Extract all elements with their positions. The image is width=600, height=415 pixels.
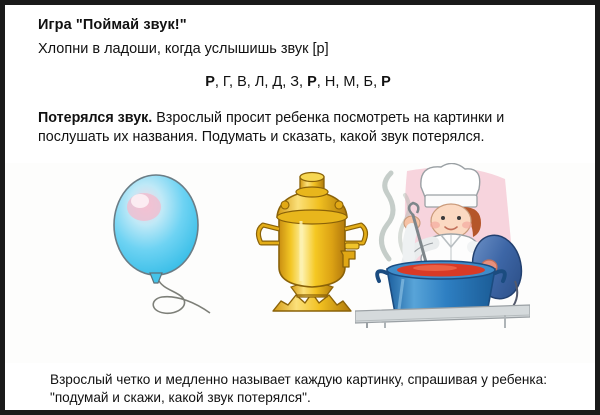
- letter-token: З: [290, 74, 299, 90]
- picture-cook: [355, 163, 530, 328]
- letters-sequence-text: Р, Г, В, Л, Д, З, Р, Н, М, Б, Р: [205, 74, 391, 90]
- letter-token: ,: [299, 74, 307, 90]
- letter-token: ,: [215, 74, 223, 90]
- letter-token: ,: [373, 74, 381, 90]
- letter-token: Б: [364, 74, 374, 90]
- task-paragraph: Потерялся звук. Взрослый просит ребенка …: [38, 109, 566, 147]
- picture-band: ollect kids: [5, 163, 595, 363]
- letter-target: Р: [307, 74, 317, 90]
- letter-target: Р: [205, 74, 215, 90]
- picture-balloon: [100, 163, 250, 328]
- letter-token: В: [237, 74, 247, 90]
- letter-token: ,: [229, 74, 237, 90]
- letter-token: ,: [317, 74, 325, 90]
- letter-token: ,: [247, 74, 255, 90]
- bottom-note: Взрослый четко и медленно называет кажду…: [50, 371, 560, 407]
- letter-token: Д: [272, 74, 282, 90]
- task-lead-label: Потерялся звук.: [38, 110, 152, 126]
- page-title: Игра "Поймай звук!": [38, 17, 187, 33]
- letter-token: Л: [255, 74, 265, 90]
- letters-sequence: Р, Г, В, Л, Д, З, Р, Н, М, Б, Р: [38, 74, 558, 90]
- worksheet-page: Игра "Поймай звук!" Хлопни в ладоши, ког…: [0, 0, 600, 415]
- letter-token: М: [343, 74, 355, 90]
- letter-token: Н: [325, 74, 335, 90]
- letter-token: ,: [355, 74, 363, 90]
- worksheet-inner: Игра "Поймай звук!" Хлопни в ладоши, ког…: [5, 5, 595, 410]
- instruction-subtitle: Хлопни в ладоши, когда услышишь звук [р]: [38, 41, 329, 57]
- letter-target: Р: [381, 74, 391, 90]
